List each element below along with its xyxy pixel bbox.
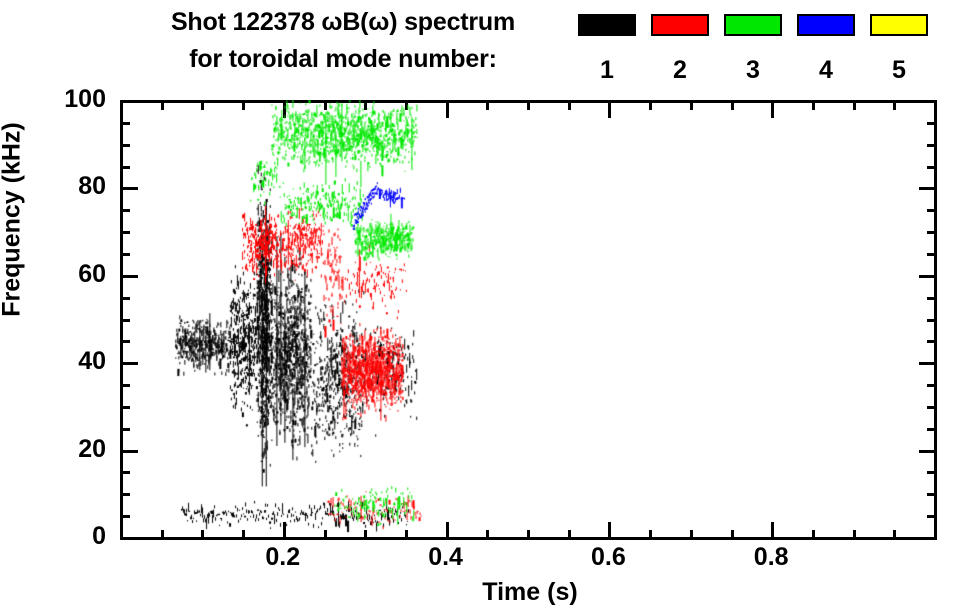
spectrogram-plot-area	[123, 100, 934, 537]
xtick-top-1	[934, 100, 937, 118]
legend-label-1: 1	[578, 56, 636, 85]
y-axis-title: Frequency (kHz)	[0, 40, 27, 400]
y-tick-label-0: 0	[36, 524, 106, 549]
legend-label-5: 5	[870, 56, 928, 85]
legend-label-2: 2	[651, 56, 709, 85]
chart-title-line-2: for toroidal mode number:	[108, 41, 578, 78]
xtick-1	[934, 522, 937, 540]
y-tick-label-40: 40	[36, 349, 106, 374]
y-tick-label-80: 80	[36, 174, 106, 199]
x-tick-label-0.2: 0.2	[238, 545, 328, 570]
x-tick-label-0.4: 0.4	[401, 545, 491, 570]
legend-swatch-1	[578, 14, 636, 36]
chart-title: Shot 122378 ωB(ω) spectrum for toroidal …	[108, 4, 578, 78]
legend-swatch-row	[578, 14, 948, 40]
legend-swatch-2	[651, 14, 709, 36]
legend-label-3: 3	[724, 56, 782, 85]
legend: 12345	[578, 10, 948, 90]
x-tick-label-0.8: 0.8	[726, 545, 816, 570]
legend-label-4: 4	[797, 56, 855, 85]
legend-swatch-3	[724, 14, 782, 36]
legend-label-row: 12345	[578, 56, 948, 90]
legend-swatch-4	[797, 14, 855, 36]
x-tick-label-0.6: 0.6	[563, 545, 653, 570]
y-tick-label-20: 20	[36, 437, 106, 462]
y-tick-label-60: 60	[36, 262, 106, 287]
spectrogram-canvas	[123, 100, 934, 537]
chart-title-line-1: Shot 122378 ωB(ω) spectrum	[108, 4, 578, 41]
legend-swatch-5	[870, 14, 928, 36]
y-tick-label-100: 100	[36, 87, 106, 112]
x-axis-title: Time (s)	[400, 578, 660, 607]
